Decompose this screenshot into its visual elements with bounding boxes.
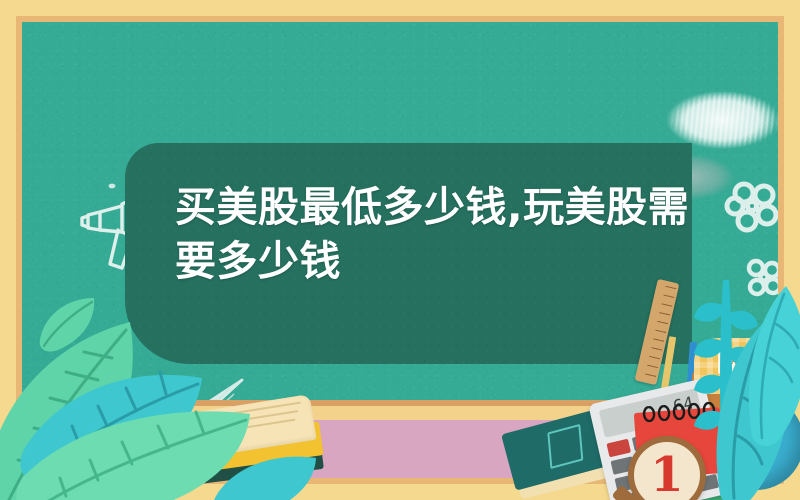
banner-canvas: 买美股最低多少钱,玩美股需要多少钱 Flower 64 [0,0,800,500]
leaf-teal-right-outer [742,286,800,446]
leaf-accent-left [36,294,96,354]
magnifier-number: 1 [650,451,683,499]
leaf-teal-small [210,452,320,500]
page-title: 买美股最低多少钱,玩美股需要多少钱 [175,180,695,288]
